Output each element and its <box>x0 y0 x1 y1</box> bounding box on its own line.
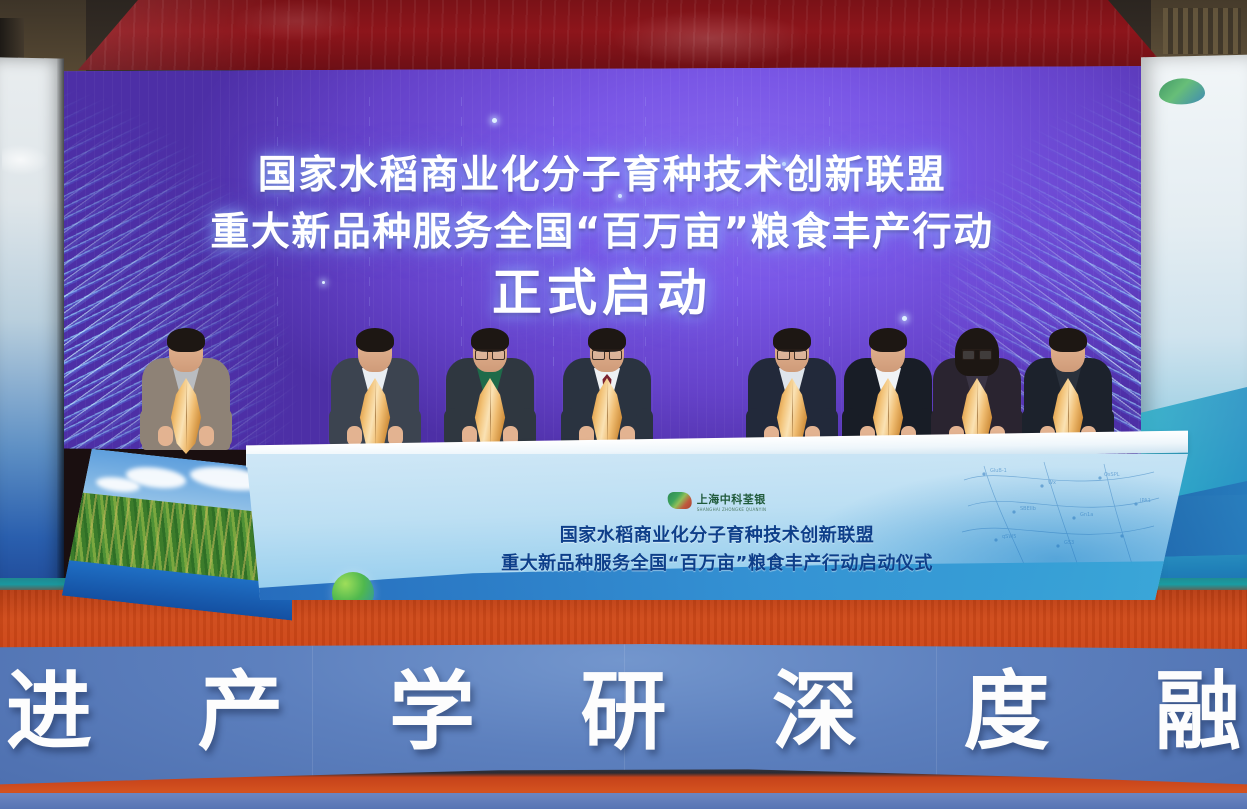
banner-lower-floor-edge <box>0 765 1247 809</box>
participant-glasses <box>962 349 992 359</box>
led-headline-line1: 国家水稻商业化分子育种技术创新联盟 <box>22 148 1182 204</box>
podium-title-line1: 国家水稻商业化分子育种技术创新联盟 <box>246 521 1188 547</box>
company-logo-text: 上海中科荃银 <box>697 493 766 506</box>
svg-text:IPA1: IPA1 <box>1140 498 1151 504</box>
company-logo-subtext: SHANGHAI ZHONGKE QUANYIN <box>697 507 767 512</box>
banner-character-1: 产 <box>198 660 284 764</box>
podium-company-logo: 上海中科荃银 SHANGHAI ZHONGKE QUANYIN <box>668 488 767 512</box>
participant-head <box>590 332 624 372</box>
participant-head <box>960 332 994 372</box>
red-backdrop-curtain <box>78 0 1168 70</box>
globe-icon <box>332 572 374 600</box>
light-spark <box>492 118 497 123</box>
podium-title-line2: 重大新品种服务全国“百万亩”粮食丰产行动启动仪式 <box>246 549 1188 575</box>
banner-character-2: 学 <box>389 660 475 764</box>
podium: GluB-1Wx OsSPLSBEIIb Gn1aIPA1 qSW5GS3 上海… <box>0 424 1247 624</box>
svg-text:SBEIIb: SBEIIb <box>1020 506 1036 512</box>
podium-front-face: GluB-1Wx OsSPLSBEIIb Gn1aIPA1 qSW5GS3 上海… <box>246 454 1188 600</box>
participant-head <box>1051 332 1085 372</box>
svg-text:GluB-1: GluB-1 <box>990 468 1007 474</box>
banner-character-3: 研 <box>581 660 667 764</box>
side-panel-logo-icon <box>1159 78 1205 105</box>
stage-scene: 国家水稻商业化分子育种技术创新联盟 重大新品种服务全国“百万亩”粮食丰产行动 正… <box>0 0 1247 809</box>
participant-hair <box>869 328 907 352</box>
participant-hair <box>356 328 394 352</box>
participant-head <box>169 332 203 372</box>
banner-slogan-text: 进产学研深度融 <box>0 660 1247 764</box>
participant-glasses <box>592 349 622 359</box>
company-logo-text-block: 上海中科荃银 SHANGHAI ZHONGKE QUANYIN <box>697 488 767 512</box>
participant-head <box>871 332 905 372</box>
company-logo-mark-icon <box>668 492 692 509</box>
foreground-blue-banner: 进产学研深度融 <box>0 644 1247 809</box>
svg-text:OsSPL: OsSPL <box>1104 472 1120 478</box>
banner-character-0: 进 <box>6 660 92 764</box>
led-headline-block: 国家水稻商业化分子育种技术创新联盟 重大新品种服务全国“百万亩”粮食丰产行动 正… <box>22 148 1182 324</box>
banner-character-5: 度 <box>964 660 1050 764</box>
participant-hair <box>167 328 205 352</box>
banner-character-6: 融 <box>1155 660 1241 764</box>
participant-head <box>358 332 392 372</box>
participant-glasses <box>777 349 807 359</box>
led-headline-line2: 重大新品种服务全国“百万亩”粮食丰产行动 <box>22 204 1182 262</box>
svg-text:Gn1a: Gn1a <box>1080 512 1093 518</box>
participant-glasses <box>475 349 505 359</box>
banner-character-4: 深 <box>772 660 858 764</box>
participant-head <box>473 332 507 372</box>
participant-head <box>775 332 809 372</box>
svg-text:Wx: Wx <box>1048 480 1056 486</box>
participant-hair <box>1049 328 1087 352</box>
